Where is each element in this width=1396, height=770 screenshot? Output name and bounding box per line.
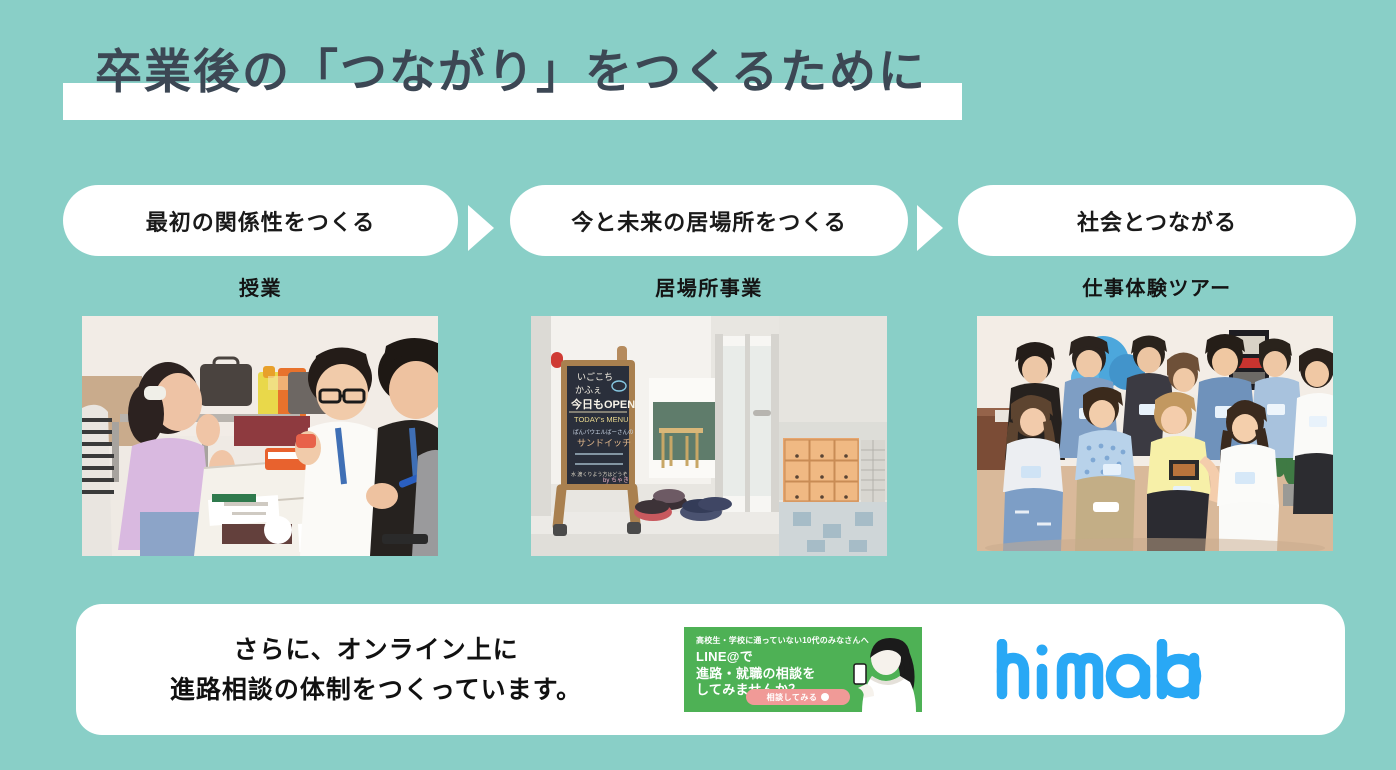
flow-row: 最初の関係性をつくる 授業 今と未来の居場所をつくる 居場所事業 社会とつながる…	[0, 185, 1396, 305]
flow-step-3-pill[interactable]: 社会とつながる	[958, 185, 1356, 256]
flow-step-2-label: 今と未来の居場所をつくる	[571, 205, 847, 237]
person-with-phone-illustration	[836, 634, 918, 712]
title-text: 卒業後の「つながり」をつくるために	[95, 40, 927, 103]
svg-text:かふぇ: かふぇ	[575, 385, 602, 395]
slide-root: 卒業後の「つながり」をつくるために 最初の関係性をつくる 授業 今と未来の居場所…	[0, 0, 1396, 770]
svg-text:ぱんパウエルばーさんの: ぱんパウエルばーさんの	[573, 428, 634, 436]
svg-text:by ちゃき: by ちゃき	[603, 477, 629, 484]
svg-text:水 渡くりよう方はどうぞ: 水 渡くりよう方はどうぞ	[571, 471, 627, 478]
flow-step-2[interactable]: 今と未来の居場所をつくる 居場所事業	[510, 185, 908, 301]
line-consultation-banner[interactable]: 高校生・学校に通っていない10代のみなさんへ LINE@で 進路・就職の相談を …	[684, 627, 922, 712]
svg-text:サンドイッチ: サンドイッチ	[577, 438, 631, 448]
flow-step-1-pill[interactable]: 最初の関係性をつくる	[63, 185, 458, 256]
photo-cafe-entrance: いごこち かふぇ 今日もOPEN TODAY's MENU ぱんパウエルばーさん…	[531, 316, 887, 556]
flow-step-1-caption: 授業	[63, 272, 458, 301]
flow-step-3-label: 社会とつながる	[1077, 205, 1237, 237]
triangle-right-icon	[468, 205, 494, 251]
line-banner-body-line1: LINE@で	[696, 649, 816, 666]
line-banner-cta-label: 相談してみる	[767, 692, 818, 703]
svg-text:TODAY's MENU: TODAY's MENU	[574, 415, 629, 424]
flow-step-3-caption: 仕事体験ツアー	[958, 272, 1356, 301]
chevron-right-icon	[821, 693, 829, 701]
flow-step-1[interactable]: 最初の関係性をつくる 授業	[63, 185, 458, 301]
online-support-line2: 進路相談の体制をつくっています。	[76, 670, 676, 710]
line-banner-cta-button[interactable]: 相談してみる	[746, 689, 850, 705]
flow-step-1-label: 最初の関係性をつくる	[146, 205, 376, 237]
line-banner-body-line2: 進路・就職の相談を	[696, 666, 816, 683]
himabu-logo	[994, 639, 1209, 701]
flow-step-2-caption: 居場所事業	[510, 272, 908, 301]
online-support-line1: さらに、オンライン上に	[76, 630, 676, 670]
online-support-text: さらに、オンライン上に 進路相談の体制をつくっています。	[76, 630, 676, 710]
svg-text:いごこち: いごこち	[577, 371, 613, 382]
flow-step-2-pill[interactable]: 今と未来の居場所をつくる	[510, 185, 908, 256]
page-title: 卒業後の「つながり」をつくるために	[63, 40, 1023, 125]
flow-step-3[interactable]: 社会とつながる 仕事体験ツアー	[958, 185, 1356, 301]
photo-group-office	[977, 316, 1333, 551]
triangle-right-icon	[917, 205, 943, 251]
svg-text:今日もOPEN: 今日もOPEN	[570, 397, 635, 411]
photo-row: いごこち かふぇ 今日もOPEN TODAY's MENU ぱんパウエルばーさん…	[0, 316, 1396, 561]
photo-classroom-workshop	[82, 316, 438, 556]
online-support-card: さらに、オンライン上に 進路相談の体制をつくっています。 高校生・学校に通ってい…	[76, 604, 1345, 735]
